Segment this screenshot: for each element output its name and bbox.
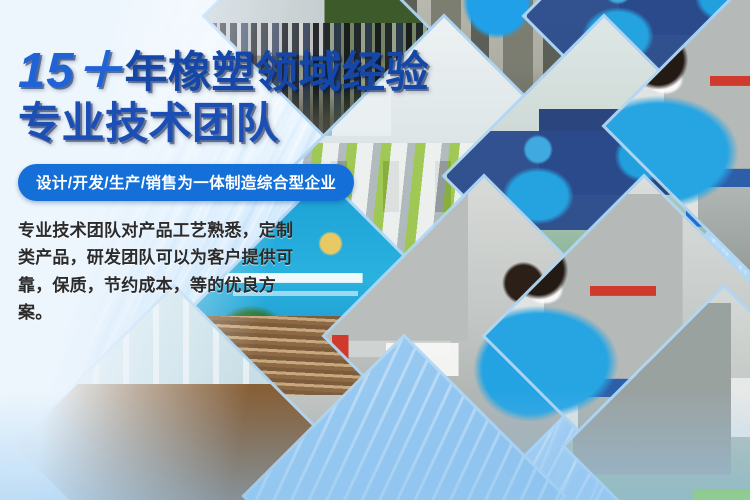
headline-line-2: 专业技术团队 — [18, 102, 478, 148]
business-scope-badge: 设计/开发/生产/销售为一体制造综合型企业 — [18, 164, 354, 201]
headline-line-1: 15＋年橡塑领域经验 — [18, 46, 478, 98]
body-paragraph: 专业技术团队对产品工艺熟悉，定制类产品，研发团队可以为客户提供可靠，保质，节约成… — [18, 217, 296, 327]
copy-block: 15＋年橡塑领域经验 专业技术团队 设计/开发/生产/销售为一体制造综合型企业 … — [18, 46, 478, 327]
company-strength-banner: 15＋年橡塑领域经验 专业技术团队 设计/开发/生产/销售为一体制造综合型企业 … — [0, 0, 750, 500]
headline-line-1-text: 年橡塑领域经验 — [125, 49, 430, 97]
years-number: 15＋ — [18, 44, 125, 98]
